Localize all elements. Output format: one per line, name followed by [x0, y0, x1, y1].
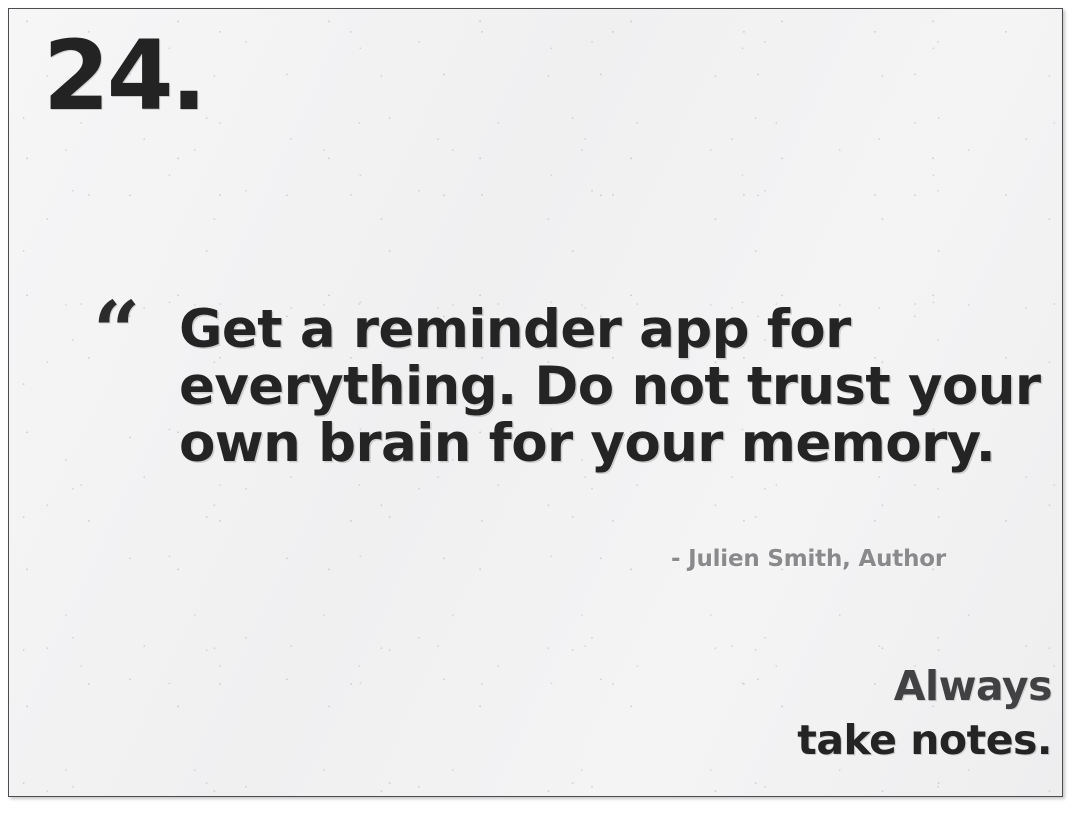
- quote-text: Get a reminder app for everything. Do no…: [179, 301, 1040, 472]
- tagline-line-2: take notes.: [9, 713, 1052, 767]
- slide-card: 24. “ Get a reminder app for everything.…: [8, 8, 1063, 797]
- tagline-line-1: Always: [9, 659, 1052, 713]
- slide-number: 24.: [43, 28, 204, 124]
- quote-block: “ Get a reminder app for everything. Do …: [93, 301, 993, 472]
- quote-line-3: own brain for your memory.: [179, 415, 1040, 472]
- slide-root: 24. “ Get a reminder app for everything.…: [0, 0, 1079, 813]
- open-quote-icon: “: [93, 301, 179, 365]
- quote-row: “ Get a reminder app for everything. Do …: [93, 301, 993, 472]
- quote-line-1: Get a reminder app for: [179, 301, 1040, 358]
- quote-attribution: - Julien Smith, Author: [9, 546, 946, 572]
- tagline-block: Always take notes.: [9, 659, 1052, 767]
- quote-line-2: everything. Do not trust your: [179, 358, 1040, 415]
